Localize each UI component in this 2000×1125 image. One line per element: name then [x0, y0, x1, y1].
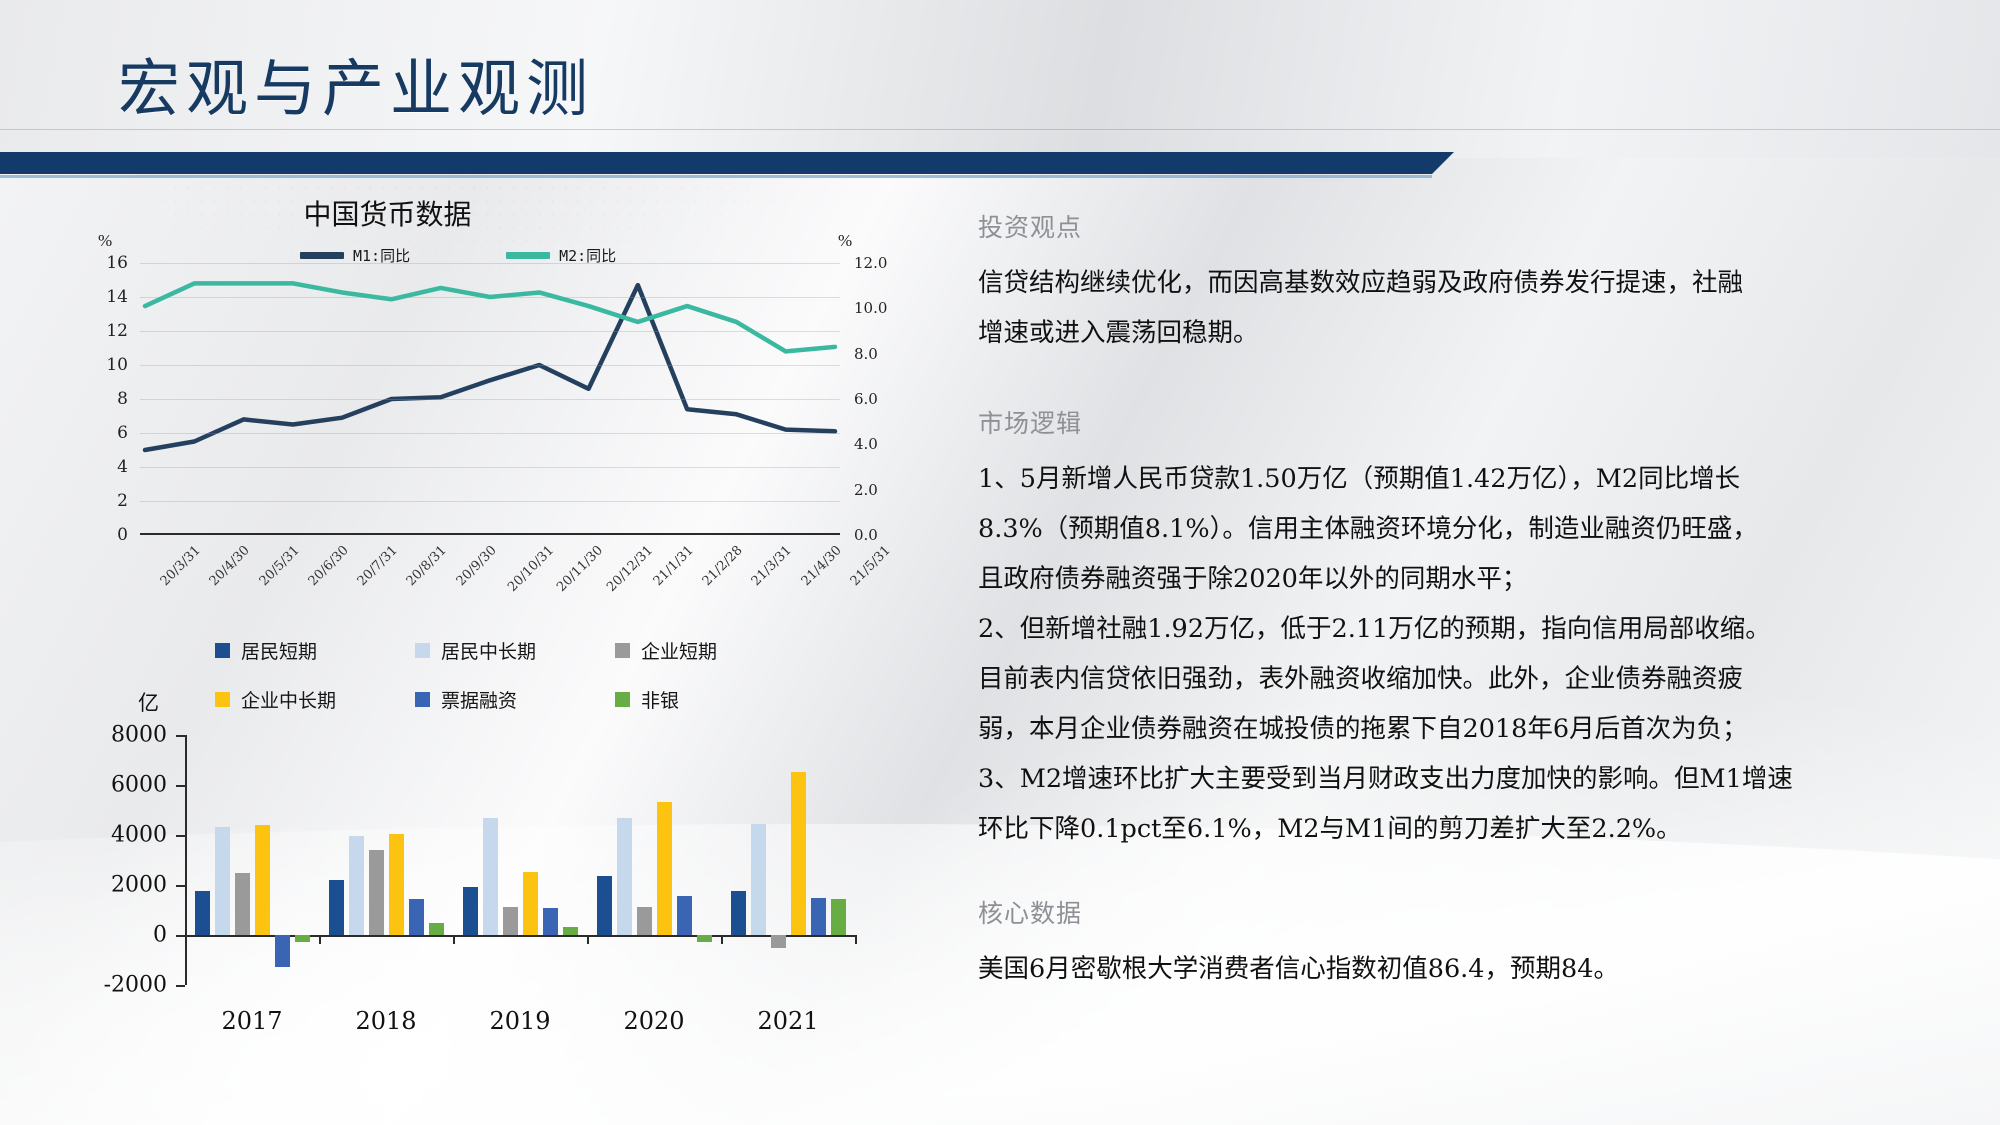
credit-structure-bar-chart: 居民短期居民中长期企业短期企业中长期票据融资非银 亿 -200002000400… — [0, 637, 935, 1107]
y-axis-right-tick-label: 0.0 — [854, 526, 908, 544]
y-axis-right-tick-label: 8.0 — [854, 345, 908, 363]
bar — [657, 802, 672, 935]
x-axis-tick-label: 20/3/31 — [158, 543, 204, 589]
y-axis-tick-label: 4 — [92, 457, 128, 477]
legend-label: 居民短期 — [241, 637, 317, 664]
y-axis-tick-label: 10 — [92, 355, 128, 375]
y-axis-right-tick-label: 12.0 — [854, 254, 908, 272]
y-axis-right-tick-label: 6.0 — [854, 390, 908, 408]
line-series-m2 — [145, 283, 835, 351]
bar — [429, 923, 444, 936]
commentary-column: 投资观点 信贷结构继续优化，而因高基数效应趋弱及政府债券发行提速，社融 增速或进… — [978, 208, 1906, 994]
bar-chart-y-axis — [185, 735, 187, 985]
market-logic-line: 环比下降0.1pct至6.1%，M2与M1间的剪刀差扩大至2.2%。 — [978, 804, 1906, 854]
investment-view-line: 信贷结构继续优化，而因高基数效应趋弱及政府债券发行提速，社融 — [978, 258, 1906, 308]
legend-swatch — [215, 692, 230, 707]
x-axis-year-label: 2021 — [757, 1007, 818, 1035]
gridline — [140, 501, 840, 502]
legend-item-5: 非银 — [615, 686, 795, 713]
page-title: 宏观与产业观测 — [118, 38, 594, 128]
x-axis-year-label: 2020 — [623, 1007, 684, 1035]
market-logic-line: 弱，本月企业债券融资在城投债的拖累下自2018年6月后首次为负； — [978, 704, 1906, 754]
bar — [195, 891, 210, 935]
legend-label: 居民中长期 — [441, 637, 536, 664]
y-axis-tick-label: 2 — [92, 491, 128, 511]
y-axis-right-tick-label: 10.0 — [854, 299, 908, 317]
bar — [543, 908, 558, 936]
spacer — [978, 854, 1906, 894]
x-axis-tick-label: 20/12/31 — [604, 543, 656, 595]
x-axis-tick-label: 20/5/31 — [256, 543, 302, 589]
market-logic-line: 1、5月新增人民币贷款1.50万亿（预期值1.42万亿），M2同比增长 — [978, 454, 1906, 504]
x-axis-group-tick — [855, 935, 857, 944]
bar — [771, 935, 786, 948]
legend-swatch — [215, 643, 230, 658]
y-axis-tick-label: 6 — [92, 423, 128, 443]
gridline — [140, 399, 840, 400]
market-logic-body: 1、5月新增人民币贷款1.50万亿（预期值1.42万亿），M2同比增长 8.3%… — [978, 454, 1906, 854]
y-axis-tick — [176, 785, 185, 787]
title-underline-bar — [0, 152, 1432, 174]
y-axis-tick-label: 12 — [92, 321, 128, 341]
y-axis-tick-label: 14 — [92, 287, 128, 307]
y-axis-tick-label: 0 — [67, 923, 167, 948]
y-axis-tick-label: -2000 — [67, 973, 167, 998]
x-axis-group-tick — [319, 935, 321, 944]
x-axis-tick-label: 20/6/30 — [306, 543, 352, 589]
bar — [697, 935, 712, 942]
y-axis-tick — [176, 935, 185, 937]
x-axis-year-label: 2017 — [221, 1007, 282, 1035]
x-axis-tick-label: 21/5/31 — [848, 543, 894, 589]
y-axis-tick-label: 4000 — [67, 823, 167, 848]
y-axis-tick-label: 6000 — [67, 773, 167, 798]
bar — [389, 834, 404, 936]
bar — [215, 827, 230, 935]
market-logic-line: 8.3%（预期值8.1%）。信用主体融资环境分化，制造业融资仍旺盛， — [978, 504, 1906, 554]
gridline — [140, 365, 840, 366]
bar — [463, 887, 478, 936]
bar-chart-plot-area: -200002000400060008000201720182019202020… — [185, 735, 855, 985]
x-axis-tick-label: 21/3/31 — [749, 543, 795, 589]
market-logic-line: 且政府债券融资强于除2020年以外的同期水平； — [978, 554, 1906, 604]
bar — [369, 850, 384, 935]
bar — [523, 872, 538, 935]
y-axis-tick — [176, 985, 185, 987]
legend-swatch — [615, 643, 630, 658]
gridline — [140, 467, 840, 468]
gridline — [140, 433, 840, 434]
y-axis-tick-label: 8000 — [67, 723, 167, 748]
y-axis-tick-label: 0 — [92, 525, 128, 545]
bar — [235, 873, 250, 935]
investment-view-line: 增速或进入震荡回稳期。 — [978, 308, 1906, 358]
x-axis-group-tick — [453, 935, 455, 944]
x-axis-tick-label: 20/7/31 — [355, 543, 401, 589]
spacer — [978, 358, 1906, 404]
bar — [295, 935, 310, 942]
gridline — [140, 297, 840, 298]
bar-chart-legend: 居民短期居民中长期企业短期企业中长期票据融资非银 — [215, 637, 815, 713]
y-axis-tick-label: 8 — [92, 389, 128, 409]
section-heading-market-logic: 市场逻辑 — [978, 404, 1906, 440]
legend-swatch — [415, 643, 430, 658]
y-axis-tick — [176, 885, 185, 887]
left-axis-unit: % — [98, 231, 112, 251]
legend-item-0: 居民短期 — [215, 637, 415, 664]
bar — [637, 907, 652, 936]
section-heading-core-data: 核心数据 — [978, 894, 1906, 930]
legend-label: 票据融资 — [441, 686, 517, 713]
bar — [731, 891, 746, 936]
bar — [483, 818, 498, 935]
gridline — [140, 331, 840, 332]
right-axis-unit: % — [838, 231, 852, 251]
bar — [791, 772, 806, 935]
market-logic-line: 3、M2增速环比扩大主要受到当月财政支出力度加快的影响。但M1增速 — [978, 754, 1906, 804]
legend-item-4: 票据融资 — [415, 686, 615, 713]
y-axis-tick — [176, 735, 185, 737]
market-logic-line: 2、但新增社融1.92万亿，低于2.11万亿的预期，指向信用局部收缩。 — [978, 604, 1906, 654]
bar — [751, 824, 766, 935]
x-axis-tick-label: 20/9/30 — [453, 543, 499, 589]
bar — [409, 899, 424, 935]
legend-item-1: 居民中长期 — [415, 637, 615, 664]
bar — [275, 935, 290, 967]
y-axis-tick — [176, 835, 185, 837]
section-heading-investment-view: 投资观点 — [978, 208, 1906, 244]
x-axis-year-label: 2018 — [355, 1007, 416, 1035]
x-axis-tick-label: 21/2/28 — [700, 543, 746, 589]
legend-label: 非银 — [641, 686, 679, 713]
x-axis-tick-label: 20/11/30 — [554, 543, 606, 595]
title-underline-accent — [0, 175, 1432, 178]
x-axis-group-tick — [587, 935, 589, 944]
legend-swatch — [415, 692, 430, 707]
bar — [811, 898, 826, 936]
legend-label: 企业短期 — [641, 637, 717, 664]
y-axis-right-tick-label: 2.0 — [854, 481, 908, 499]
bar — [677, 896, 692, 936]
gridline — [140, 263, 840, 264]
bar — [349, 836, 364, 935]
x-axis-year-label: 2019 — [489, 1007, 550, 1035]
bar — [329, 880, 344, 936]
legend-item-2: 企业短期 — [615, 637, 795, 664]
y-axis-right-tick-label: 4.0 — [854, 435, 908, 453]
core-data-body: 美国6月密歇根大学消费者信心指数初值86.4，预期84。 — [978, 944, 1906, 994]
charts-column: 中国货币数据 % % M1:同比 M2:同比 02468101214160.02… — [0, 185, 935, 1115]
legend-item-3: 企业中长期 — [215, 686, 415, 713]
china-monetary-line-chart: 中国货币数据 % % M1:同比 M2:同比 02468101214160.02… — [0, 185, 935, 645]
y-axis-tick-label: 16 — [92, 253, 128, 273]
bar — [831, 899, 846, 935]
y-axis-tick-label: 2000 — [67, 873, 167, 898]
bar — [563, 927, 578, 935]
x-axis-tick-label: 20/8/31 — [404, 543, 450, 589]
legend-label: 企业中长期 — [241, 686, 336, 713]
x-axis-tick-label: 20/4/30 — [207, 543, 253, 589]
investment-view-body: 信贷结构继续优化，而因高基数效应趋弱及政府债券发行提速，社融 增速或进入震荡回稳… — [978, 258, 1906, 358]
line-series-m1 — [145, 285, 835, 450]
legend-swatch — [615, 692, 630, 707]
bar — [597, 876, 612, 935]
bar-chart-unit: 亿 — [138, 687, 159, 717]
chart-title: 中国货币数据 — [0, 193, 775, 233]
x-axis-tick-label: 20/10/31 — [505, 543, 557, 595]
bar — [617, 818, 632, 935]
x-axis-tick-label: 21/4/30 — [798, 543, 844, 589]
x-axis-group-tick — [721, 935, 723, 944]
legend-swatch-m1 — [300, 252, 344, 259]
market-logic-line: 目前表内信贷依旧强劲，表外融资收缩加快。此外，企业债券融资疲 — [978, 654, 1906, 704]
bar — [503, 907, 518, 936]
legend-swatch-m2 — [506, 252, 550, 259]
x-axis-tick-label: 21/1/31 — [651, 543, 697, 589]
bar — [255, 825, 270, 935]
line-chart-plot-area: 02468101214160.02.04.06.08.010.012.020/3… — [140, 263, 840, 535]
